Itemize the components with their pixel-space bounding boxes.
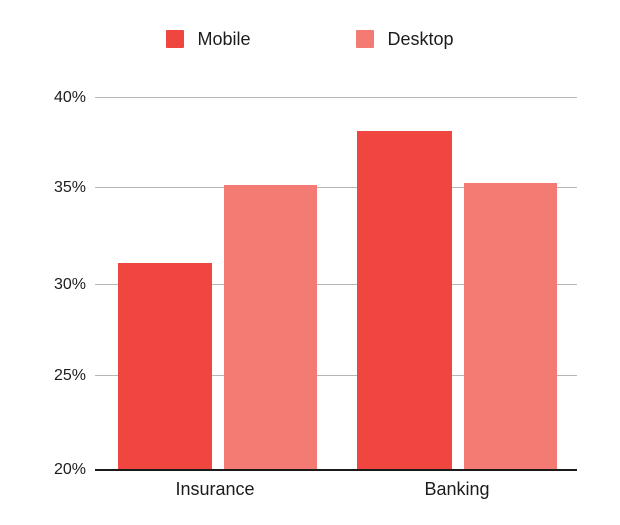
- x-axis-baseline: [95, 469, 577, 471]
- bar-group-container: [0, 0, 620, 525]
- bar-insurance-mobile[interactable]: [118, 263, 212, 470]
- bar-banking-mobile[interactable]: [357, 131, 452, 470]
- bar-chart: Mobile Desktop 40% 35% 30% 25% 20% Insur…: [0, 0, 620, 525]
- x-tick-label-insurance: Insurance: [140, 478, 290, 500]
- bar-banking-desktop[interactable]: [464, 183, 557, 470]
- bar-insurance-desktop[interactable]: [224, 185, 317, 470]
- x-tick-label-banking: Banking: [382, 478, 532, 500]
